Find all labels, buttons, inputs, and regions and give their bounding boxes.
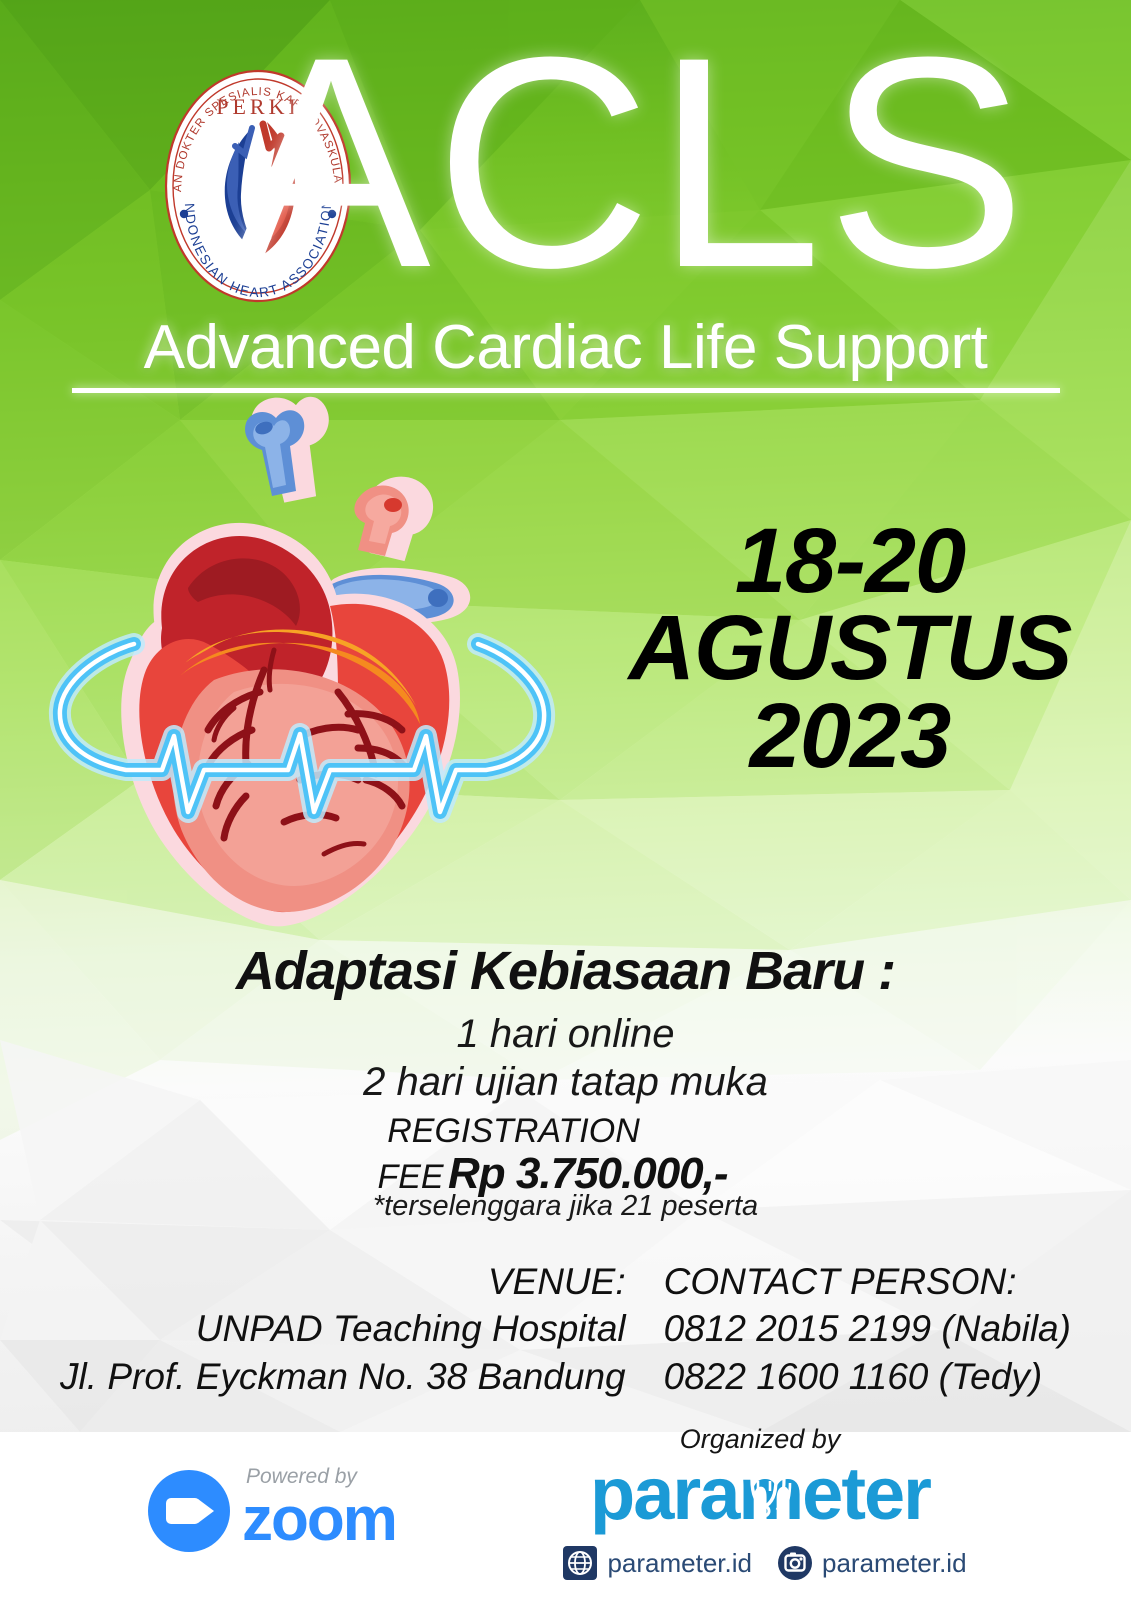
- venue-column: VENUE: UNPAD Teaching Hospital Jl. Prof.…: [60, 1258, 626, 1400]
- venue-line-1: UNPAD Teaching Hospital: [60, 1305, 626, 1352]
- venue-heading: VENUE:: [60, 1258, 626, 1305]
- contact-column: CONTACT PERSON: 0812 2015 2199 (Nabila) …: [664, 1258, 1071, 1400]
- program-headline: Adaptasi Kebiasaan Baru :: [0, 940, 1131, 1002]
- page-subtitle: Advanced Cardiac Life Support: [0, 312, 1131, 383]
- website-link[interactable]: parameter.id: [563, 1546, 752, 1580]
- organizer-block: Organized by parameter: [560, 1424, 960, 1533]
- instagram-icon: [778, 1546, 812, 1580]
- venue-contact-section: VENUE: UNPAD Teaching Hospital Jl. Prof.…: [0, 1258, 1131, 1400]
- contact-heading: CONTACT PERSON:: [664, 1258, 1071, 1305]
- acls-event-poster: PERHIMPUNAN DOKTER SPESIALIS KARDIOVASKU…: [0, 0, 1131, 1600]
- date-year: 2023: [590, 693, 1110, 780]
- contact-phone-1[interactable]: 0812 2015 2199 (Nabila): [664, 1305, 1071, 1352]
- program-details: 1 hari online 2 hari ujian tatap muka: [0, 1010, 1131, 1106]
- social-links: parameter.id parameter.id: [560, 1546, 970, 1580]
- fee-footnote: *terselenggara jika 21 peserta: [0, 1190, 1131, 1223]
- powered-by-label: Powered by: [246, 1466, 396, 1487]
- page-title: ACLS: [0, 12, 1131, 312]
- zoom-logo: Powered by zoom: [148, 1466, 396, 1555]
- website-label: parameter.id: [607, 1548, 752, 1579]
- program-line-2: 2 hari ujian tatap muka: [0, 1058, 1131, 1106]
- contact-phone-2[interactable]: 0822 1600 1160 (Tedy): [664, 1353, 1071, 1400]
- globe-icon: [563, 1546, 597, 1580]
- parameter-m-glyph: m: [738, 1455, 802, 1533]
- stethoscope-icon: [740, 1473, 802, 1521]
- date-month: AGUSTUS: [590, 605, 1110, 692]
- parameter-wordmark: parameter: [590, 1455, 930, 1533]
- program-line-1: 1 hari online: [0, 1010, 1131, 1058]
- instagram-link[interactable]: parameter.id: [778, 1546, 967, 1580]
- organized-by-label: Organized by: [560, 1424, 960, 1455]
- zoom-camera-icon: [148, 1470, 230, 1552]
- zoom-wordmark: zoom: [242, 1489, 396, 1551]
- instagram-label: parameter.id: [822, 1548, 967, 1579]
- anatomical-heart-illustration: [38, 392, 568, 932]
- parameter-suffix: eter: [802, 1452, 930, 1535]
- parameter-prefix: para: [590, 1452, 738, 1535]
- date-day-range: 18-20: [590, 518, 1110, 605]
- venue-line-2: Jl. Prof. Eyckman No. 38 Bandung: [60, 1353, 626, 1400]
- registration-label: REGISTRATION: [0, 1112, 1131, 1151]
- event-date: 18-20 AGUSTUS 2023: [590, 518, 1110, 780]
- registration-fee-block: REGISTRATION FEE Rp 3.750.000,-: [0, 1112, 1131, 1199]
